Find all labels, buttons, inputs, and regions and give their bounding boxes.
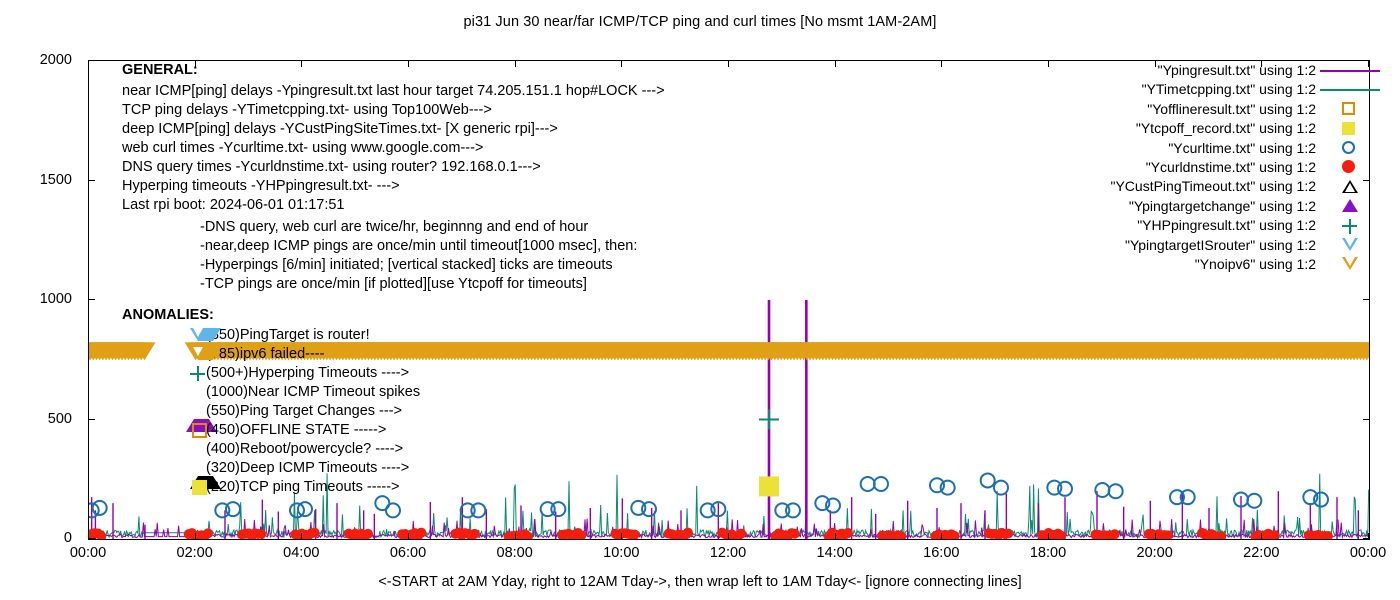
legend-label: "Ynoipv6" using 1:2 bbox=[1195, 255, 1316, 274]
anomaly-symbol-sq-open-icon bbox=[192, 423, 207, 438]
anomaly-line: (500+)Hyperping Timeouts ----> bbox=[206, 364, 409, 383]
anomaly-line: (320)Deep ICMP Timeouts ----> bbox=[206, 459, 409, 478]
general-heading: GENERAL: bbox=[122, 61, 198, 80]
legend: "Ypingresult.txt" using 1:2"YTimetcpping… bbox=[1016, 61, 1316, 274]
x-tick-label: 14:00 bbox=[817, 545, 853, 561]
x-tick-mark bbox=[195, 60, 196, 67]
x-tick-label: 18:00 bbox=[1030, 545, 1066, 561]
x-tick-mark bbox=[1155, 60, 1156, 67]
legend-label: "YHPpingresult.txt" using 1:2 bbox=[1137, 216, 1316, 235]
x-tick-label: 00:00 bbox=[70, 545, 106, 561]
x-tick-label: 00:00 bbox=[1350, 545, 1386, 561]
x-tick-label: 16:00 bbox=[923, 545, 959, 561]
legend-item: "Ycurltime.txt" using 1:2 bbox=[1016, 139, 1316, 158]
legend-item: "YTimetcpping.txt" using 1:2 bbox=[1016, 80, 1316, 99]
legend-line-swatch bbox=[1320, 70, 1380, 72]
x-tick-mark bbox=[941, 60, 942, 67]
y-tick-label: 0 bbox=[64, 530, 72, 546]
x-tick-mark bbox=[1048, 533, 1049, 540]
x-tick-mark bbox=[1368, 533, 1369, 540]
x-tick-mark bbox=[301, 60, 302, 67]
anomaly-line: (850)PingTarget is router! bbox=[206, 326, 370, 345]
anomaly-line: (400)Reboot/powercycle? ----> bbox=[206, 440, 403, 459]
y-tick-mark bbox=[1363, 180, 1370, 181]
x-tick-label: 06:00 bbox=[390, 545, 426, 561]
x-tick-mark bbox=[408, 60, 409, 67]
x-tick-label: 12:00 bbox=[710, 545, 746, 561]
general-line: DNS query times -Ycurldnstime.txt- using… bbox=[122, 158, 541, 177]
legend-label: "YpingtargetISrouter" using 1:2 bbox=[1125, 236, 1316, 255]
legend-symbol-plus-icon bbox=[1342, 219, 1357, 234]
x-tick-mark bbox=[728, 533, 729, 540]
general-line: Last rpi boot: 2024-06-01 01:17:51 bbox=[122, 196, 345, 215]
legend-item: "YpingtargetISrouter" using 1:2 bbox=[1016, 236, 1316, 255]
legend-symbol-sq-fill-icon bbox=[1342, 122, 1355, 135]
anomaly-line: (785)ipv6 failed---- bbox=[206, 345, 324, 364]
anomaly-line: (550)Ping Target Changes ---> bbox=[206, 402, 402, 421]
x-tick-mark bbox=[1368, 60, 1369, 67]
anomaly-line: (450)OFFLINE STATE -----> bbox=[206, 421, 386, 440]
legend-symbol-tri-up-open-icon bbox=[1342, 180, 1358, 193]
general-line: deep ICMP[ping] delays -YCustPingSiteTim… bbox=[122, 120, 558, 139]
x-tick-mark bbox=[941, 533, 942, 540]
anomaly-line: (220)TCP ping Timeouts -----> bbox=[206, 478, 400, 497]
legend-key-tri-dn-blue-icon bbox=[1320, 236, 1382, 255]
y-tick-label: 1000 bbox=[40, 291, 72, 307]
legend-symbol-tri-up-fill-icon bbox=[1342, 199, 1358, 212]
legend-symbol-tri-dn-blue-icon bbox=[1342, 238, 1358, 251]
legend-item: "Ypingresult.txt" using 1:2 bbox=[1016, 61, 1316, 80]
legend-key-sq-fill-icon bbox=[1320, 119, 1382, 138]
x-tick-mark bbox=[1261, 533, 1262, 540]
x-tick-mark bbox=[301, 533, 302, 540]
legend-symbol-tri-dn-org-icon bbox=[1342, 257, 1358, 270]
legend-label: "Ycurltime.txt" using 1:2 bbox=[1168, 139, 1316, 158]
legend-label: "Ytcpoff_record.txt" using 1:2 bbox=[1136, 119, 1316, 138]
anomaly-symbol-sq-fill-icon bbox=[192, 480, 207, 495]
legend-key-circ-icon bbox=[1320, 139, 1382, 158]
anomalies-heading: ANOMALIES: bbox=[122, 306, 214, 325]
legend-symbol-circ-icon bbox=[1342, 141, 1355, 154]
legend-line-swatch bbox=[1320, 89, 1380, 91]
legend-label: "YTimetcpping.txt" using 1:2 bbox=[1142, 80, 1316, 99]
x-tick-mark bbox=[621, 60, 622, 67]
general-indent-line: -near,deep ICMP pings are once/min until… bbox=[200, 237, 637, 256]
x-tick-label: 08:00 bbox=[497, 545, 533, 561]
legend-label: "Ypingtargetchange" using 1:2 bbox=[1129, 197, 1316, 216]
x-tick-mark bbox=[88, 60, 89, 67]
x-tick-mark bbox=[1155, 533, 1156, 540]
legend-label: "YCustPingTimeout.txt" using 1:2 bbox=[1110, 177, 1316, 196]
legend-key-sq-open-icon bbox=[1320, 100, 1382, 119]
legend-key-tri-dn-org-icon bbox=[1320, 255, 1382, 274]
x-tick-mark bbox=[621, 533, 622, 540]
x-tick-mark bbox=[88, 533, 89, 540]
legend-key-dot-icon bbox=[1320, 158, 1382, 177]
x-tick-mark bbox=[1048, 60, 1049, 67]
legend-symbol-sq-open-icon bbox=[1342, 102, 1355, 115]
x-tick-mark bbox=[195, 533, 196, 540]
general-line: TCP ping delays -YTimetcpping.txt- using… bbox=[122, 101, 492, 120]
y-tick-mark bbox=[88, 538, 95, 539]
chart-title: pi31 Jun 30 near/far ICMP/TCP ping and c… bbox=[0, 14, 1400, 30]
legend-key-line-icon bbox=[1320, 61, 1382, 80]
legend-item: "Ypingtargetchange" using 1:2 bbox=[1016, 197, 1316, 216]
legend-key-tri-up-open-icon bbox=[1320, 177, 1382, 196]
legend-item: "Ynoipv6" using 1:2 bbox=[1016, 255, 1316, 274]
x-tick-label: 10:00 bbox=[603, 545, 639, 561]
x-tick-label: 04:00 bbox=[283, 545, 319, 561]
y-tick-label: 500 bbox=[48, 411, 72, 427]
general-line: near ICMP[ping] delays -Ypingresult.txt … bbox=[122, 82, 665, 101]
x-tick-mark bbox=[515, 533, 516, 540]
general-line: web curl times -Ycurltime.txt- using www… bbox=[122, 139, 483, 158]
general-indent-line: -TCP pings are once/min [if plotted][use… bbox=[200, 275, 587, 294]
legend-label: "Ypingresult.txt" using 1:2 bbox=[1158, 61, 1316, 80]
legend-item: "Ytcpoff_record.txt" using 1:2 bbox=[1016, 119, 1316, 138]
y-axis-label: msec bbox=[0, 257, 2, 292]
x-tick-label: 20:00 bbox=[1137, 545, 1173, 561]
y-tick-label: 1500 bbox=[40, 172, 72, 188]
x-tick-mark bbox=[835, 60, 836, 67]
y-tick-mark bbox=[1363, 419, 1370, 420]
x-tick-label: 02:00 bbox=[177, 545, 213, 561]
x-tick-label: 22:00 bbox=[1243, 545, 1279, 561]
x-tick-mark bbox=[408, 533, 409, 540]
legend-key-tri-up-fill-icon bbox=[1320, 197, 1382, 216]
y-tick-mark bbox=[88, 180, 95, 181]
anomaly-symbol-plus-icon bbox=[190, 366, 205, 381]
legend-label: "Ycurldnstime.txt" using 1:2 bbox=[1146, 158, 1316, 177]
legend-item: "Ycurldnstime.txt" using 1:2 bbox=[1016, 158, 1316, 177]
y-tick-mark bbox=[1363, 299, 1370, 300]
general-indent-line: -Hyperpings [6/min] initiated; [vertical… bbox=[200, 256, 613, 275]
x-tick-mark bbox=[515, 60, 516, 67]
x-tick-mark bbox=[728, 60, 729, 67]
general-line: Hyperping timeouts -YHPpingresult.txt- -… bbox=[122, 177, 400, 196]
x-tick-mark bbox=[835, 533, 836, 540]
y-tick-label: 2000 bbox=[40, 52, 72, 68]
legend-symbol-dot-icon bbox=[1342, 160, 1355, 173]
general-indent-line: -DNS query, web curl are twice/hr, begin… bbox=[200, 218, 588, 237]
legend-key-line-icon bbox=[1320, 80, 1382, 99]
anomaly-line: (1000)Near ICMP Timeout spikes bbox=[206, 383, 420, 402]
y-axis: 0500100015002000 bbox=[0, 0, 86, 600]
legend-item: "YCustPingTimeout.txt" using 1:2 bbox=[1016, 177, 1316, 196]
legend-item: "YHPpingresult.txt" using 1:2 bbox=[1016, 216, 1316, 235]
x-axis-caption: <-START at 2AM Yday, right to 12AM Tday-… bbox=[0, 574, 1400, 590]
legend-label: "Yofflineresult.txt" using 1:2 bbox=[1147, 100, 1316, 119]
y-tick-mark bbox=[88, 60, 95, 61]
x-tick-mark bbox=[1261, 60, 1262, 67]
legend-item: "Yofflineresult.txt" using 1:2 bbox=[1016, 100, 1316, 119]
legend-key-plus-icon bbox=[1320, 216, 1382, 235]
y-tick-mark bbox=[88, 299, 95, 300]
y-tick-mark bbox=[88, 419, 95, 420]
